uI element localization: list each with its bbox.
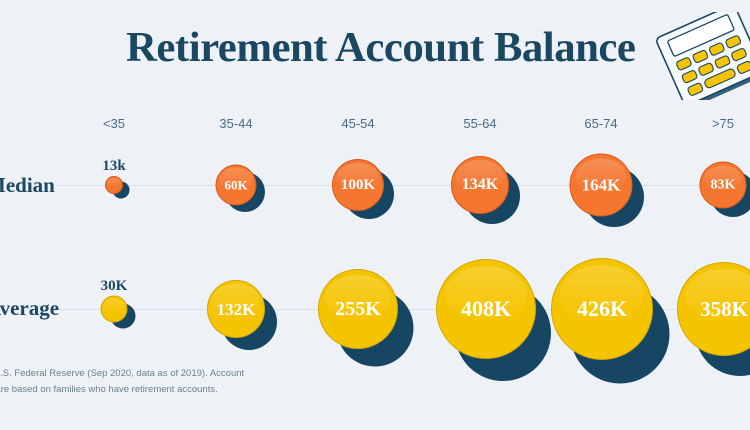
column-header-0: <35 [103, 116, 125, 131]
infographic-canvas: Retirement Account Balance [0, 0, 750, 430]
median-bubble-5[interactable]: 83K [700, 162, 747, 209]
average-value-2: 255K [335, 299, 381, 319]
source-footnote-line-1: ce: U.S. Federal Reserve (Sep 2020, data… [0, 366, 278, 382]
median-bubble-4[interactable]: 164K [570, 154, 633, 217]
average-value-5: 358K [700, 299, 748, 320]
calculator-icon [655, 12, 750, 100]
median-bubble-3[interactable]: 134K [451, 156, 509, 214]
average-bubble-5[interactable]: 358K [677, 262, 750, 356]
median-value-5: 83K [711, 178, 736, 192]
source-footnote: ce: U.S. Federal Reserve (Sep 2020, data… [0, 366, 278, 397]
median-bubble-1[interactable]: 60K [216, 165, 257, 206]
median-bubble-2[interactable]: 100K [332, 159, 384, 211]
median-value-1: 60K [224, 179, 247, 192]
column-header-2: 45-54 [341, 116, 374, 131]
row-label-average: Average [0, 296, 59, 321]
column-header-3: 55-64 [463, 116, 496, 131]
median-value-2: 100K [341, 178, 375, 193]
average-bubble-2[interactable]: 255K [318, 269, 398, 349]
median-value-3: 134K [462, 177, 498, 193]
source-footnote-line-2: ces are based on families who have retir… [0, 382, 278, 398]
median-bubble-0[interactable] [105, 176, 123, 194]
average-bubble-0[interactable] [101, 296, 128, 323]
row-label-median: Median [0, 173, 55, 198]
median-axis-line [56, 185, 750, 186]
page-title: Retirement Account Balance [126, 24, 635, 72]
average-value-label-0: 30K [101, 278, 128, 295]
average-value-4: 426K [577, 298, 627, 320]
median-value-4: 164K [582, 177, 621, 194]
column-header-1: 35-44 [219, 116, 252, 131]
column-header-5: >75 [712, 116, 734, 131]
column-header-4: 65-74 [584, 116, 617, 131]
average-bubble-1[interactable]: 132K [207, 280, 265, 338]
average-bubble-3[interactable]: 408K [436, 259, 536, 359]
average-value-1: 132K [217, 301, 256, 318]
median-value-label-0: 13k [102, 158, 125, 175]
average-bubble-4[interactable]: 426K [551, 258, 653, 360]
average-value-3: 408K [461, 298, 511, 320]
